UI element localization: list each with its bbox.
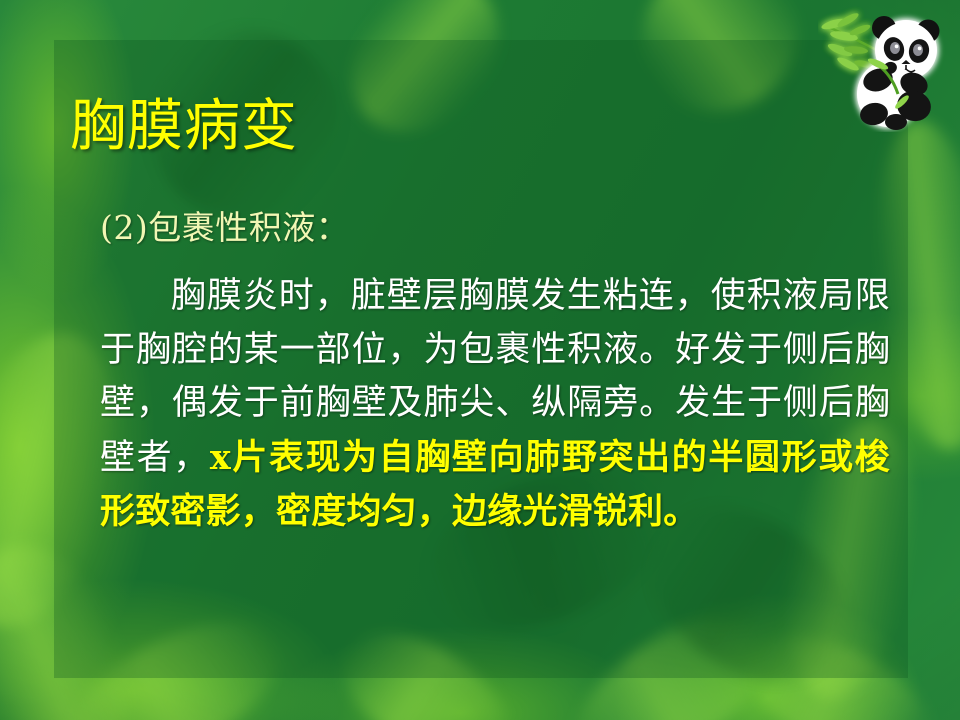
paragraph-highlighted-text: x片表现为自胸壁向肺野突出的半圆形或梭形致密影，密度均匀，边缘光滑锐利。 — [100, 437, 890, 533]
body-paragraph: 胸膜炎时，脏壁层胸膜发生粘连，使积液局限于胸腔的某一部位，为包裹性积液。好发于侧… — [100, 270, 890, 540]
sub-heading: (2)包裹性积液： — [100, 202, 890, 254]
panda-with-bamboo-icon — [818, 2, 956, 132]
presentation-slide: 胸膜病变 (2)包裹性积液： 胸膜炎时，脏壁层胸膜发生粘连，使积液局限于胸腔的某… — [0, 0, 960, 720]
page-title: 胸膜病变 — [70, 96, 298, 158]
slide-body: (2)包裹性积液： 胸膜炎时，脏壁层胸膜发生粘连，使积液局限于胸腔的某一部位，为… — [100, 202, 890, 540]
